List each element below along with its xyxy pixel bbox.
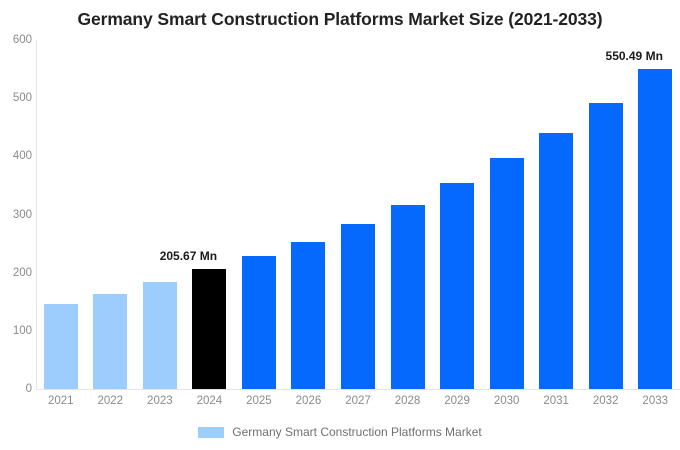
y-axis-tick-label: 0 <box>2 383 32 395</box>
legend-swatch-germany-smart-construction-platforms-market <box>198 427 224 438</box>
y-axis-tick-label: 500 <box>2 92 32 104</box>
y-axis-tick-label: 200 <box>2 267 32 279</box>
bar-value-label-2033: 550.49 Mn <box>606 49 663 63</box>
bar-chart: Germany Smart Construction Platforms Mar… <box>0 0 680 450</box>
y-axis-tick-label: 300 <box>2 209 32 221</box>
y-axis: 0100200300400500600 <box>0 0 32 450</box>
bar-value-label-2024: 205.67 Mn <box>160 249 217 263</box>
legend-label: Germany Smart Construction Platforms Mar… <box>232 425 481 439</box>
y-axis-tick-label: 100 <box>2 325 32 337</box>
y-axis-tick-label: 600 <box>2 34 32 46</box>
y-axis-tick-label: 400 <box>2 150 32 162</box>
value-labels-container: 205.67 Mn550.49 Mn <box>36 0 680 450</box>
chart-legend: Germany Smart Construction Platforms Mar… <box>0 425 680 439</box>
